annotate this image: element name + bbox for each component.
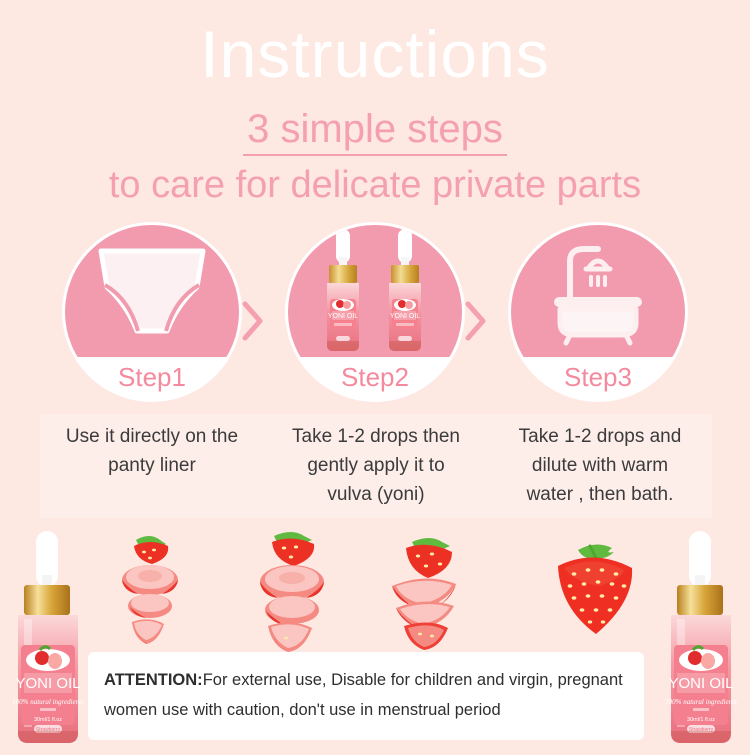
attention-line-1-text: For external use, Disable for children a…	[203, 671, 623, 689]
step-2-label: Step2	[288, 355, 462, 399]
attention-label: ATTENTION:	[104, 671, 203, 689]
step-1-label: Step1	[65, 355, 239, 399]
step-2-text-line-2: gently apply it to	[264, 451, 488, 480]
subtitle-secondary: to care for delicate private parts	[0, 160, 750, 210]
step-circle-3-body: Step3	[508, 222, 688, 402]
step-2-description: Take 1-2 drops then gently apply it to v…	[264, 422, 488, 509]
step-2-text-line-1: Take 1-2 drops then	[264, 422, 488, 451]
svg-text:YONI OIL: YONI OIL	[15, 675, 80, 692]
step-3-text-line-2: dilute with warm	[488, 451, 712, 480]
step-circle-2[interactable]: YONI OIL	[285, 222, 465, 402]
step-circle-2-body: YONI OIL	[285, 222, 465, 402]
strawberry-sliced-1	[110, 528, 190, 653]
step-3-label: Step3	[511, 355, 685, 399]
product-bottle-right: YONI OIL 100% natural ingredients 30ml/1…	[655, 527, 750, 755]
step-1-description: Use it directly on the panty liner	[40, 422, 264, 480]
bathtub-shower-icon	[511, 225, 685, 357]
svg-text:100% natural ingredients: 100% natural ingredients	[665, 698, 737, 706]
step-1-text-line-2: panty liner	[40, 451, 264, 480]
oil-bottles-icon: YONI OIL	[288, 225, 462, 357]
chevron-right-icon	[240, 300, 266, 342]
step-3-text-line-3: water , then bath.	[488, 480, 712, 509]
infographic-page: Instructions 3 simple steps to care for …	[0, 0, 750, 750]
attention-line-2: women use with caution, don't use in men…	[104, 695, 628, 725]
step-3-description: Take 1-2 drops and dilute with warm wate…	[488, 422, 712, 509]
subtitle-primary: 3 simple steps	[0, 104, 750, 154]
svg-text:YONI OIL: YONI OIL	[668, 675, 733, 692]
steps-row: Step1	[0, 222, 750, 402]
step-circle-1-body: Step1	[62, 222, 242, 402]
attention-line-1: ATTENTION:For external use, Disable for …	[104, 665, 628, 695]
strawberry-whole-1	[540, 540, 650, 653]
chevron-right-icon	[463, 300, 489, 342]
product-bottle-left: YONI OIL 100% natural ingredients 30ml/1…	[2, 527, 98, 755]
strawberry-band	[0, 520, 750, 660]
strawberry-sliced-3	[382, 534, 470, 657]
subtitle-primary-text: 3 simple steps	[243, 107, 507, 156]
svg-text:YONI OIL: YONI OIL	[328, 313, 358, 320]
step-circle-1[interactable]: Step1	[62, 222, 242, 402]
svg-text:100% natural ingredients: 100% natural ingredients	[12, 698, 84, 706]
page-title: Instructions	[0, 14, 750, 94]
step-2-text-line-3: vulva (yoni)	[264, 480, 488, 509]
svg-text:30ml/1 fl.oz: 30ml/1 fl.oz	[34, 717, 62, 723]
svg-text:30ml/1 fl.oz: 30ml/1 fl.oz	[687, 717, 715, 723]
panty-liner-icon	[65, 225, 239, 357]
attention-box: ATTENTION:For external use, Disable for …	[88, 652, 644, 740]
step-3-text-line-1: Take 1-2 drops and	[488, 422, 712, 451]
svg-text:YONI OIL: YONI OIL	[390, 313, 420, 320]
step-1-text-line-1: Use it directly on the	[40, 422, 264, 451]
strawberry-sliced-2	[246, 526, 338, 659]
step-circle-3[interactable]: Step3	[508, 222, 688, 402]
instructions-text-panel: Use it directly on the panty liner Take …	[40, 414, 712, 518]
